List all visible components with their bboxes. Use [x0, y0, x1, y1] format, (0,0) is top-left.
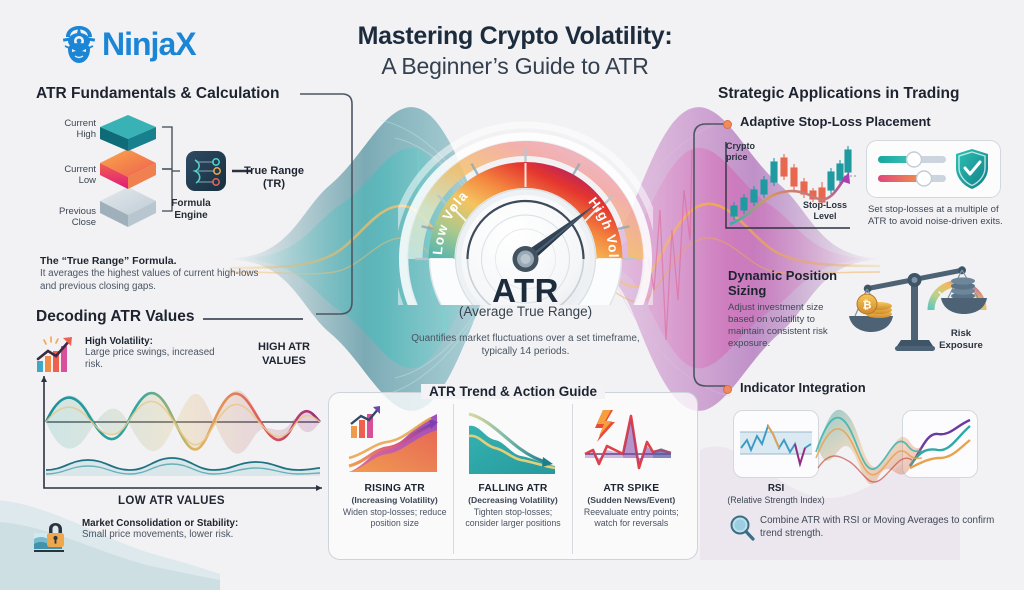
true-range-output-label: True Range(TR)	[238, 165, 310, 191]
section-heading-strategic: Strategic Applications in Trading	[718, 85, 959, 103]
trend-title-rising: RISING ATR	[364, 483, 424, 494]
rsi-sublabel: (Relative Strength Index)	[706, 495, 846, 505]
lock-icon	[32, 515, 78, 555]
input-label-current-low: CurrentLow	[40, 164, 96, 186]
trend-subtitle-falling: (Decreasing Volatility)	[468, 495, 558, 505]
decoding-heading-rule	[203, 318, 303, 320]
stop-loss-level-label: Stop-LossLevel	[795, 200, 855, 221]
trend-title-falling: FALLING ATR	[478, 483, 547, 494]
decorative-wave-indicator	[812, 396, 922, 496]
connector-line-left	[300, 88, 360, 328]
market-consolidation-note: Market Consolidation or Stability: Small…	[82, 518, 312, 541]
low-atr-values-label: LOW ATR VALUES	[118, 495, 225, 507]
brand-logo: NinjaX	[60, 24, 196, 64]
position-sizing-title: Dynamic Position Sizing	[728, 268, 838, 298]
atr-description: Quantifies market fluctuations over a se…	[398, 332, 653, 358]
page-title: Mastering Crypto Volatility: A Beginner’…	[320, 22, 710, 80]
atr-expansion: (Average True Range)	[398, 304, 653, 319]
trend-body-spike: Reevaluate entry points; watch for rever…	[577, 507, 686, 529]
trend-title-spike: ATR SPIKE	[603, 483, 659, 494]
consolidation-body: Small price movements, lower risk.	[82, 529, 312, 541]
infographic-canvas: NinjaX Mastering Crypto Volatility: A Be…	[0, 0, 1024, 572]
trend-column-falling: FALLING ATR (Decreasing Volatility) Tigh…	[453, 404, 571, 554]
indicator-description: Combine ATR with RSI or Moving Averages …	[760, 515, 1005, 540]
trend-column-spike: ATR SPIKE (Sudden News/Event) Reevaluate…	[572, 404, 690, 554]
rsi-label: RSI	[726, 483, 826, 494]
formula-note-body: It averages the highest values of curren…	[40, 268, 265, 293]
consolidation-title: Market Consolidation or Stability:	[82, 518, 312, 529]
input-label-previous-close: PreviousClose	[40, 206, 96, 228]
section-heading-fundamentals: ATR Fundamentals & Calculation	[36, 85, 279, 103]
stop-loss-description: Set stop-losses at a multiple of ATR to …	[868, 204, 1003, 228]
trend-body-falling: Tighten stop-losses; consider larger pos…	[458, 507, 567, 529]
lightning-spike-icon	[581, 406, 681, 478]
high-volatility-title: High Volatility:	[85, 336, 225, 347]
formula-note-title: The “True Range” Formula.	[40, 255, 265, 267]
risk-exposure-label: Risk Exposure	[930, 328, 992, 351]
stop-loss-controls	[874, 146, 994, 192]
high-atr-values-label: HIGH ATR VALUES	[238, 340, 330, 368]
position-sizing-description: Adjust investment size based on volatili…	[728, 302, 833, 350]
bullet-indicator	[723, 385, 732, 394]
title-line-2: A Beginner’s Guide to ATR	[320, 53, 710, 80]
high-volatility-body: Large price swings, increased risk.	[85, 347, 225, 371]
formula-engine-label: FormulaEngine	[160, 198, 222, 222]
rising-bar-chart-icon	[34, 335, 80, 375]
brand-name: NinjaX	[102, 26, 196, 63]
section-heading-decoding: Decoding ATR Values	[36, 308, 194, 326]
rsi-chart	[737, 414, 815, 474]
input-label-current-high: CurrentHigh	[40, 118, 96, 140]
ninja-helmet-icon	[60, 24, 98, 64]
trend-panel-heading: ATR Trend & Action Guide	[328, 383, 698, 401]
trend-column-rising: RISING ATR (Increasing Volatility) Widen…	[336, 404, 453, 554]
falling-trend-icon	[463, 406, 563, 478]
true-range-formula-note: The “True Range” Formula. It averages th…	[40, 255, 265, 293]
bullet-stop-loss	[723, 120, 732, 129]
trend-subtitle-rising: (Increasing Volatility)	[352, 495, 438, 505]
trend-subtitle-spike: (Sudden News/Event)	[587, 495, 675, 505]
indicator-integration-title: Indicator Integration	[740, 380, 866, 395]
stop-loss-title: Adaptive Stop-Loss Placement	[740, 114, 931, 129]
title-line-1: Mastering Crypto Volatility:	[320, 22, 710, 51]
magnifier-icon	[728, 514, 756, 542]
crypto-price-label: Cryptoprice	[726, 141, 755, 162]
svg-text:₿: ₿	[863, 300, 872, 312]
trend-body-rising: Widen stop-losses; reduce position size	[340, 507, 449, 529]
trend-columns: RISING ATR (Increasing Volatility) Widen…	[336, 404, 690, 554]
shield-check-icon	[956, 149, 988, 189]
high-volatility-note: High Volatility: Large price swings, inc…	[85, 336, 225, 371]
atr-values-wave-chart	[30, 370, 330, 500]
rising-trend-icon	[345, 406, 445, 478]
